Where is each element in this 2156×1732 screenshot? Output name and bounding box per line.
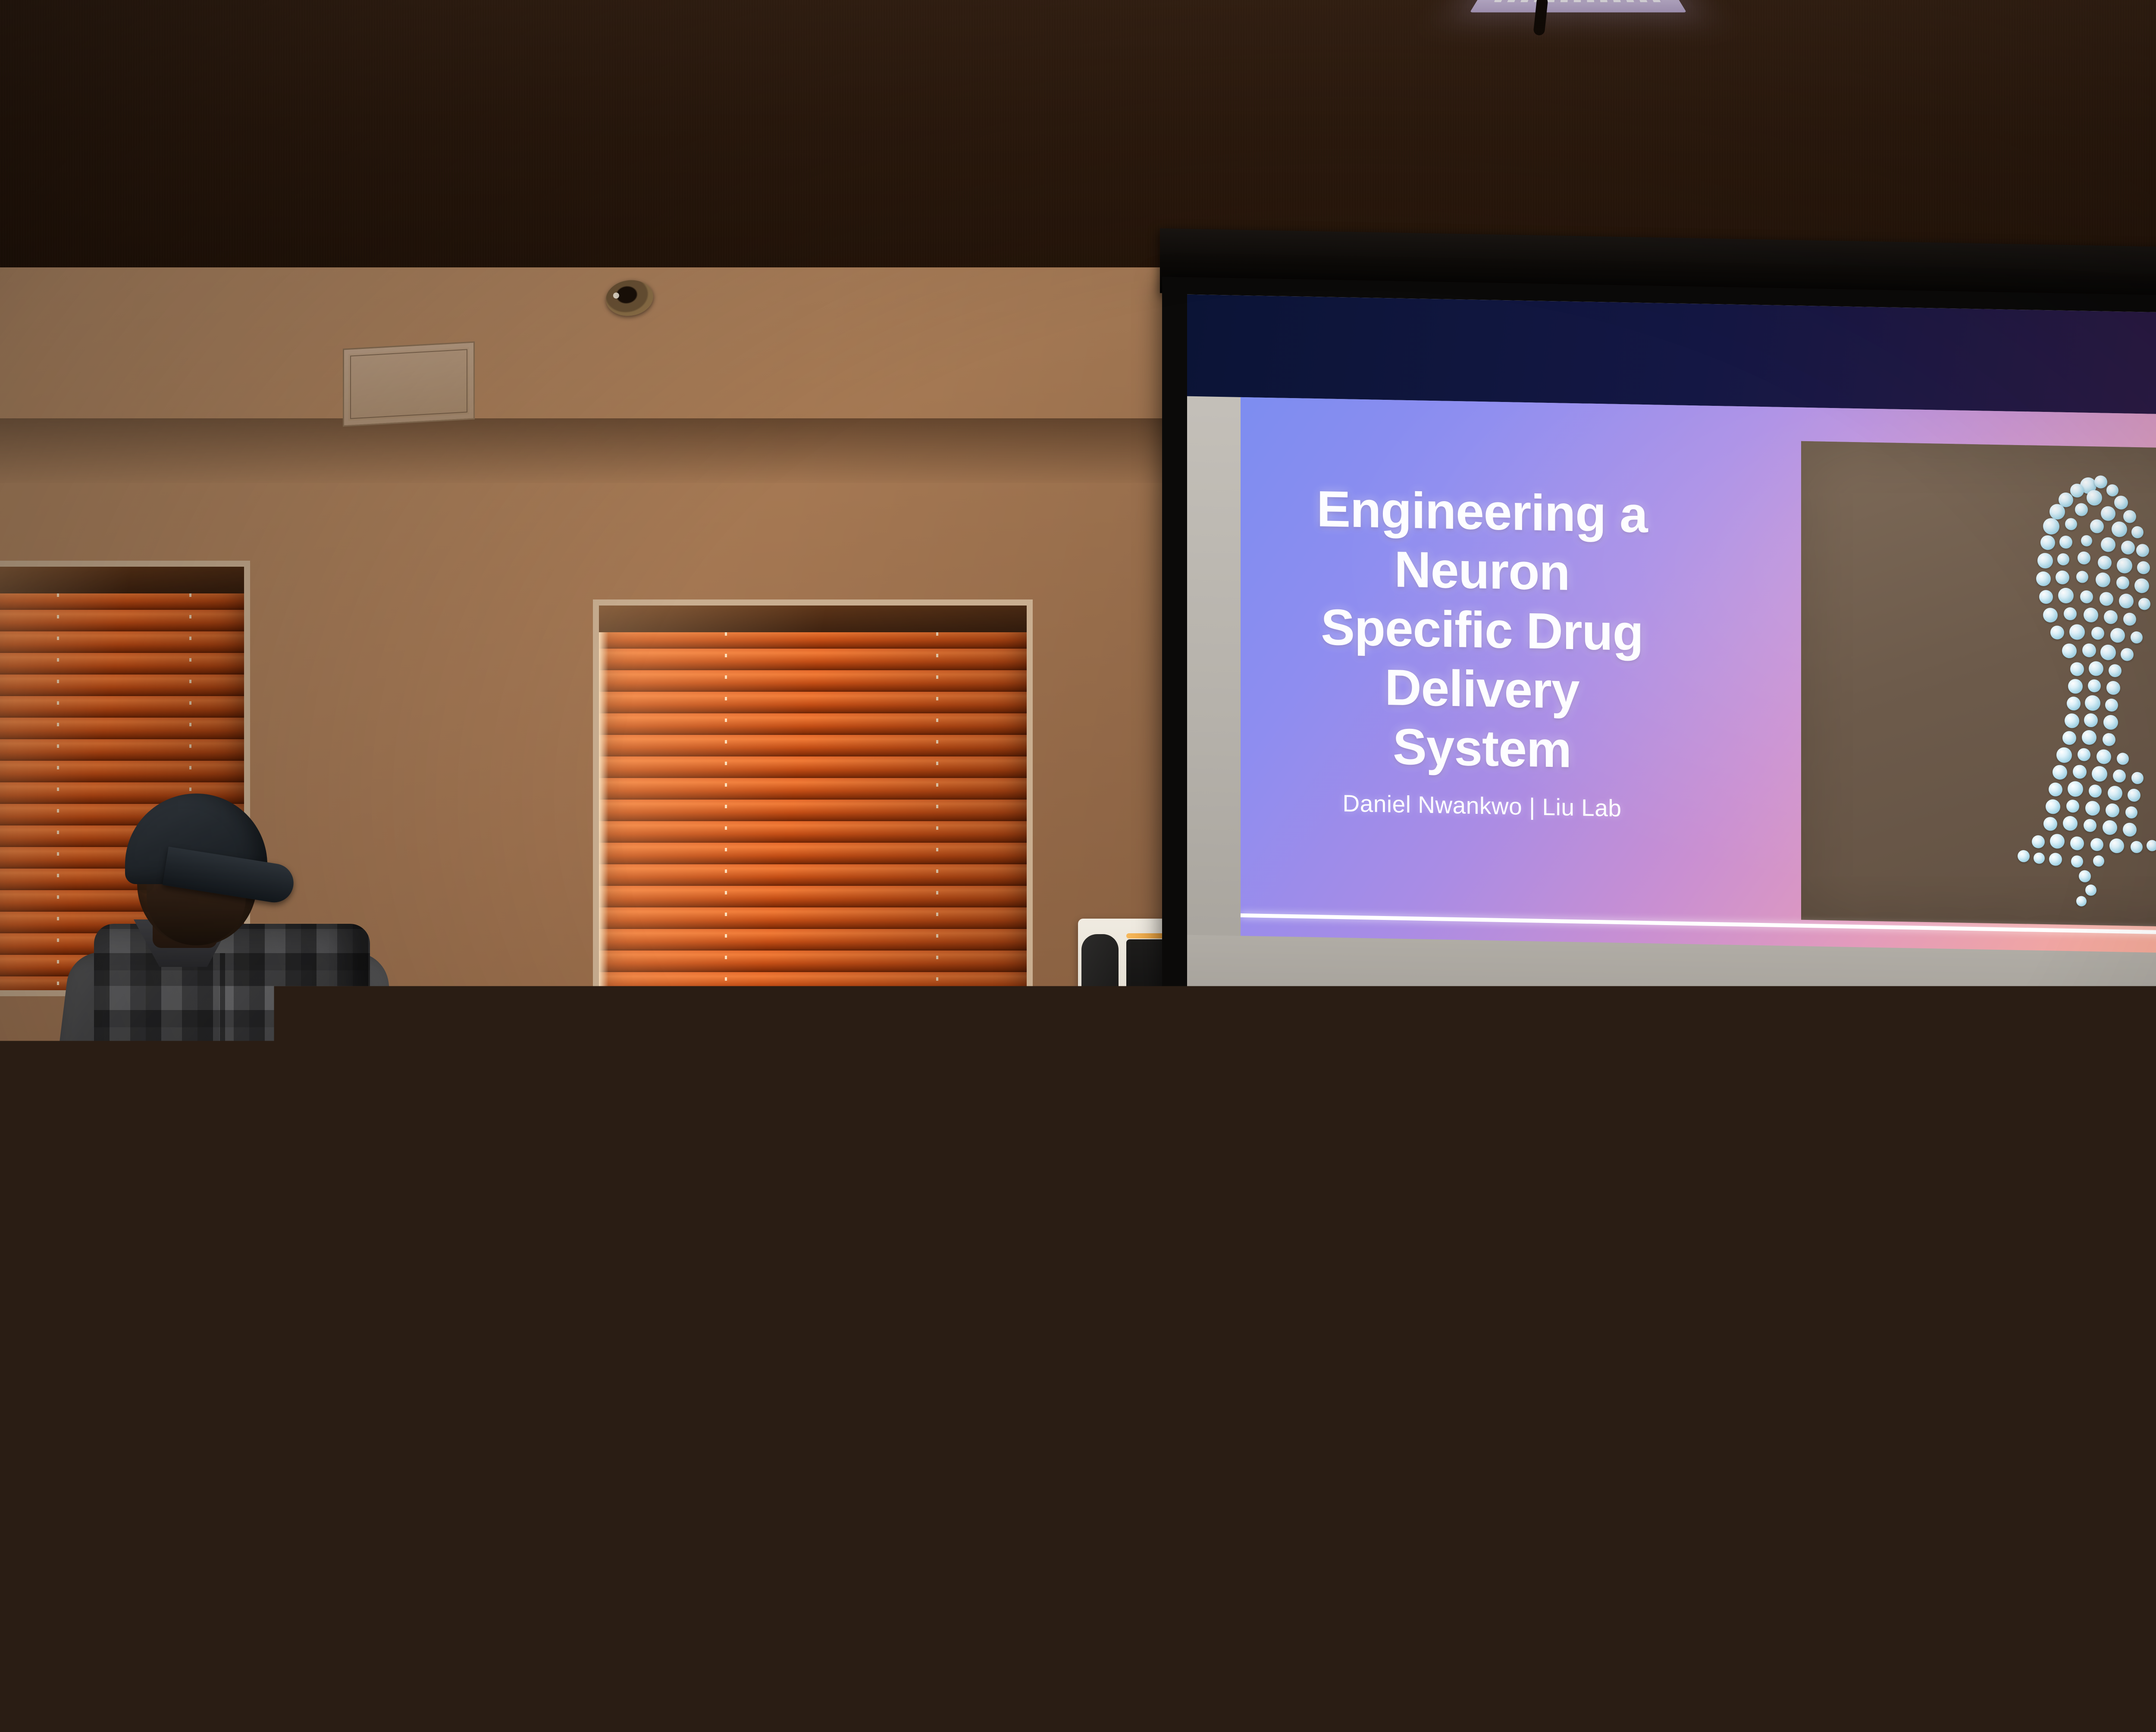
tablecloth-folds [1115, 1443, 2156, 1732]
molecule-atom [2131, 841, 2143, 853]
molecule-atom [2049, 782, 2062, 797]
molecule-atom [2128, 789, 2140, 802]
ceiling-light-panel [1494, 0, 1662, 2]
molecule-atom [2080, 590, 2093, 604]
molecule-atom [2109, 664, 2122, 678]
screen-unlit-lower [1187, 935, 2156, 1102]
molecule-atom [2092, 766, 2107, 782]
molecule-atom [2090, 838, 2103, 851]
molecule-atom [2067, 697, 2081, 711]
molecule-atom [2071, 855, 2083, 868]
molecule-atom [2106, 803, 2119, 818]
molecule-atom [2131, 631, 2143, 644]
molecule-atom [2043, 817, 2057, 831]
molecule-atom [2037, 553, 2053, 569]
molecule-atom [2081, 535, 2092, 546]
molecule-atom [2062, 731, 2076, 745]
ceiling-light-fixture [1470, 0, 1687, 13]
molecule-atom [2116, 576, 2129, 590]
molecule-atom [2134, 578, 2149, 593]
window-frame [593, 599, 1033, 1065]
molecule-atom [2110, 628, 2125, 643]
molecule-atom [2114, 496, 2128, 510]
molecule-atom [2119, 593, 2134, 609]
molecule-atom [2076, 896, 2087, 907]
molecule-atom [2062, 643, 2077, 659]
screen-surface: Engineering a Neuron Specific Drug Deliv… [1187, 295, 2156, 1102]
molecule-atom [2066, 800, 2079, 813]
wall-access-panel [343, 341, 475, 427]
molecule-atom [2040, 535, 2055, 550]
chair-fabric-texture [0, 1535, 154, 1732]
screen-support-foot [1766, 1168, 1802, 1178]
molecule-atom [2056, 747, 2072, 763]
molecule-atom [2088, 679, 2101, 693]
slide-title-line-3: Specific Drug [1241, 596, 1724, 664]
molecule-atom [2069, 624, 2085, 640]
molecule-atom [2109, 838, 2124, 853]
molecule-atom [2138, 598, 2150, 610]
molecule-atom [2043, 518, 2059, 535]
slide-title-line-1: Engineering a [1241, 478, 1724, 546]
molecule-atom [2085, 801, 2100, 816]
molecule-atom [2082, 643, 2096, 658]
slide-title: Engineering a Neuron Specific Drug Deliv… [1241, 478, 1724, 782]
molecule-atom [2103, 715, 2118, 730]
white-clip-object[interactable] [1550, 1393, 1605, 1415]
remote-power-button[interactable] [1316, 1422, 1324, 1428]
molecule-atom [2085, 885, 2096, 896]
molecule-atom [2049, 853, 2062, 866]
screen-support-post [1779, 1131, 1789, 1171]
molecule-atom [2049, 504, 2065, 520]
molecule-atom [2106, 484, 2118, 497]
molecule-atom [2073, 765, 2087, 779]
chair-back-rim [0, 1511, 171, 1546]
molecule-atom [2065, 713, 2079, 728]
slide-subtitle: Daniel Nwankwo | Liu Lab [1241, 788, 1724, 824]
molecule-atom [2101, 537, 2115, 552]
molecule-atom [2100, 592, 2113, 606]
projection-screen: Engineering a Neuron Specific Drug Deliv… [1162, 277, 2156, 1146]
molecule-atom [2068, 781, 2083, 797]
tablecloth-skirt [1115, 1443, 2156, 1732]
molecule-atom [2064, 607, 2077, 621]
presentation-scene: Engineering a Neuron Specific Drug Deliv… [0, 0, 2156, 1732]
molecule-atom [2084, 819, 2096, 832]
molecule-atom [2121, 648, 2134, 661]
molecule-atom [2068, 679, 2083, 694]
slide-title-line-4: Delivery [1241, 656, 1724, 723]
projected-slide: Engineering a Neuron Specific Drug Deliv… [1241, 397, 2156, 959]
molecule-atom [2117, 558, 2132, 574]
slide-title-line-5: System [1241, 714, 1724, 782]
molecule-atom [2131, 526, 2143, 539]
molecule-atom [2053, 765, 2067, 780]
ceiling [0, 0, 2156, 272]
molecule-atom [2106, 681, 2120, 695]
molecule-atom [2046, 799, 2060, 814]
molecule-atom [2105, 699, 2118, 712]
molecule-atom [2082, 730, 2096, 745]
viewer-cap-logo [487, 1357, 519, 1371]
molecule-atom [2096, 749, 2111, 764]
window-center [593, 599, 1033, 1065]
molecule-atom [2121, 541, 2135, 555]
molecule-atom [2113, 769, 2126, 783]
molecule-atom [2108, 786, 2122, 801]
molecule-atom [2090, 519, 2104, 533]
molecule-atom [2059, 536, 2072, 549]
molecule-atom [2096, 572, 2110, 587]
molecule-atom [2057, 553, 2069, 566]
molecule-atom [2078, 552, 2090, 565]
molecule-atom [2125, 806, 2137, 819]
audience-member [272, 1246, 780, 1732]
molecule-atom [2050, 834, 2065, 849]
phone-handset[interactable] [1081, 934, 1119, 1064]
banquet-chair[interactable] [0, 1518, 164, 1732]
molecule-atom [2112, 521, 2127, 537]
molecule-atom [2089, 784, 2102, 798]
molecule-atom [2065, 518, 2077, 530]
podium-top-surface [399, 1109, 791, 1172]
molecule-atom [2123, 823, 2137, 837]
molecule-atom [2058, 588, 2074, 604]
molecule-atom [2131, 772, 2143, 784]
molecule-atom [2123, 510, 2136, 524]
ceiling-texture [0, 0, 2156, 272]
molecule-atom [2039, 590, 2053, 604]
molecule-atom [2147, 840, 2156, 851]
molecule-atom [2079, 870, 2091, 883]
molecule-atom [2076, 571, 2088, 584]
protein-structure-image: + [1801, 441, 2156, 931]
molecule-atom [2100, 645, 2116, 661]
molecule-atom [2123, 613, 2136, 626]
molecule-atom [2137, 561, 2150, 574]
molecule-atom [2056, 571, 2069, 585]
draped-table [1115, 1387, 2156, 1732]
molecule-atom [2136, 544, 2149, 557]
molecule-atom [2093, 855, 2104, 866]
viewer-backpack-black-panel [513, 1626, 694, 1732]
molecule-atom [2043, 608, 2058, 623]
molecule-atom [2050, 626, 2064, 640]
side-table-leg-left [1005, 1428, 1028, 1729]
molecule-atom [2094, 475, 2107, 489]
molecule-atom [2070, 483, 2084, 498]
molecule-atom [2103, 820, 2117, 835]
molecule-atom [2101, 506, 2115, 521]
presentation-remote[interactable] [1244, 1415, 1329, 1443]
molecule-atom [2032, 835, 2045, 849]
molecule-model [2012, 478, 2156, 913]
molecule-atom [2098, 556, 2112, 570]
molecule-atom [2063, 816, 2078, 831]
molecule-atom [2084, 713, 2098, 728]
slide-title-line-2: Neuron [1241, 537, 1724, 605]
molecule-atom [2036, 571, 2051, 587]
molecule-atom [2085, 695, 2100, 711]
molecule-atom [2084, 608, 2098, 623]
molecule-atom [2117, 753, 2129, 765]
molecule-atom [2070, 662, 2084, 676]
molecule-atom [2103, 733, 2115, 747]
trophy-handle-left [2153, 1243, 2156, 1313]
molecule-atom [2034, 853, 2045, 864]
molecule-atom [2070, 836, 2084, 850]
molecule-atom [2075, 503, 2088, 517]
molecule-atom [2104, 610, 2118, 624]
molecule-atom [2078, 748, 2090, 762]
molecule-atom [2018, 850, 2030, 863]
molecule-atom [2091, 627, 2104, 640]
molecule-atom [2087, 490, 2102, 506]
molecule-atom [2089, 661, 2103, 676]
